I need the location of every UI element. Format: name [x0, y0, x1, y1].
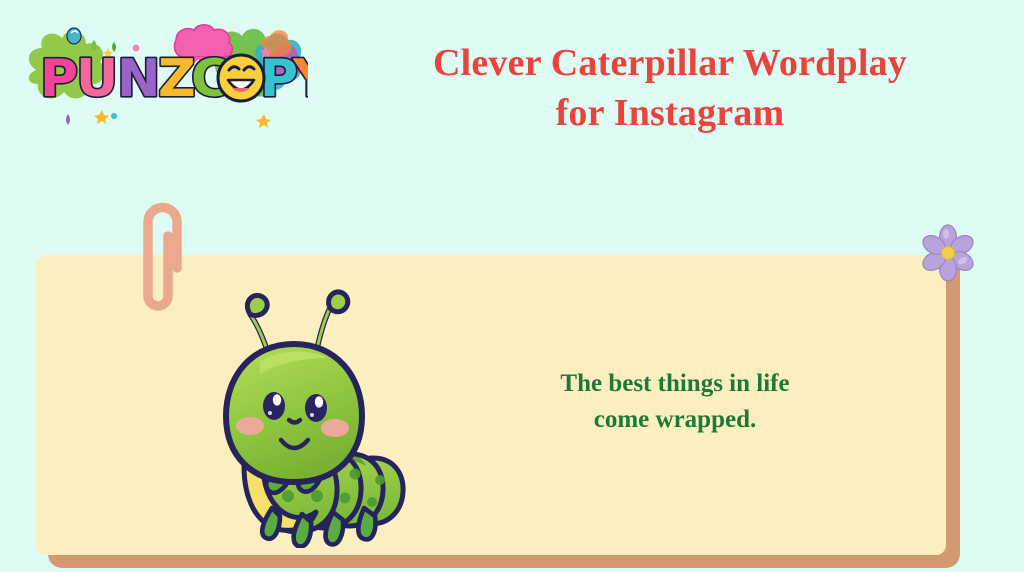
paperclip-icon — [132, 196, 194, 320]
quote-line-2: come wrapped. — [460, 402, 890, 438]
page-title: Clever Caterpillar Wordplay for Instagra… — [330, 38, 1010, 138]
caterpillar-icon — [198, 258, 413, 548]
quote-line-1: The best things in life — [460, 366, 890, 402]
page-title-line-2: for Instagram — [330, 88, 1010, 138]
logo-letter-y: Y — [292, 49, 308, 109]
poster-canvas: PUNZCOPY — [0, 0, 1024, 572]
logo-letter-u: U — [76, 49, 118, 109]
logo-letter-p1: P — [40, 49, 78, 109]
laughing-face-icon — [218, 55, 264, 101]
quote-text: The best things in life come wrapped. — [460, 366, 890, 437]
logo-letter-n: N — [117, 49, 161, 109]
page-title-line-1: Clever Caterpillar Wordplay — [330, 38, 1010, 88]
punzcopy-logo[interactable]: PUNZCOPY — [18, 18, 308, 128]
flower-icon — [917, 222, 979, 284]
